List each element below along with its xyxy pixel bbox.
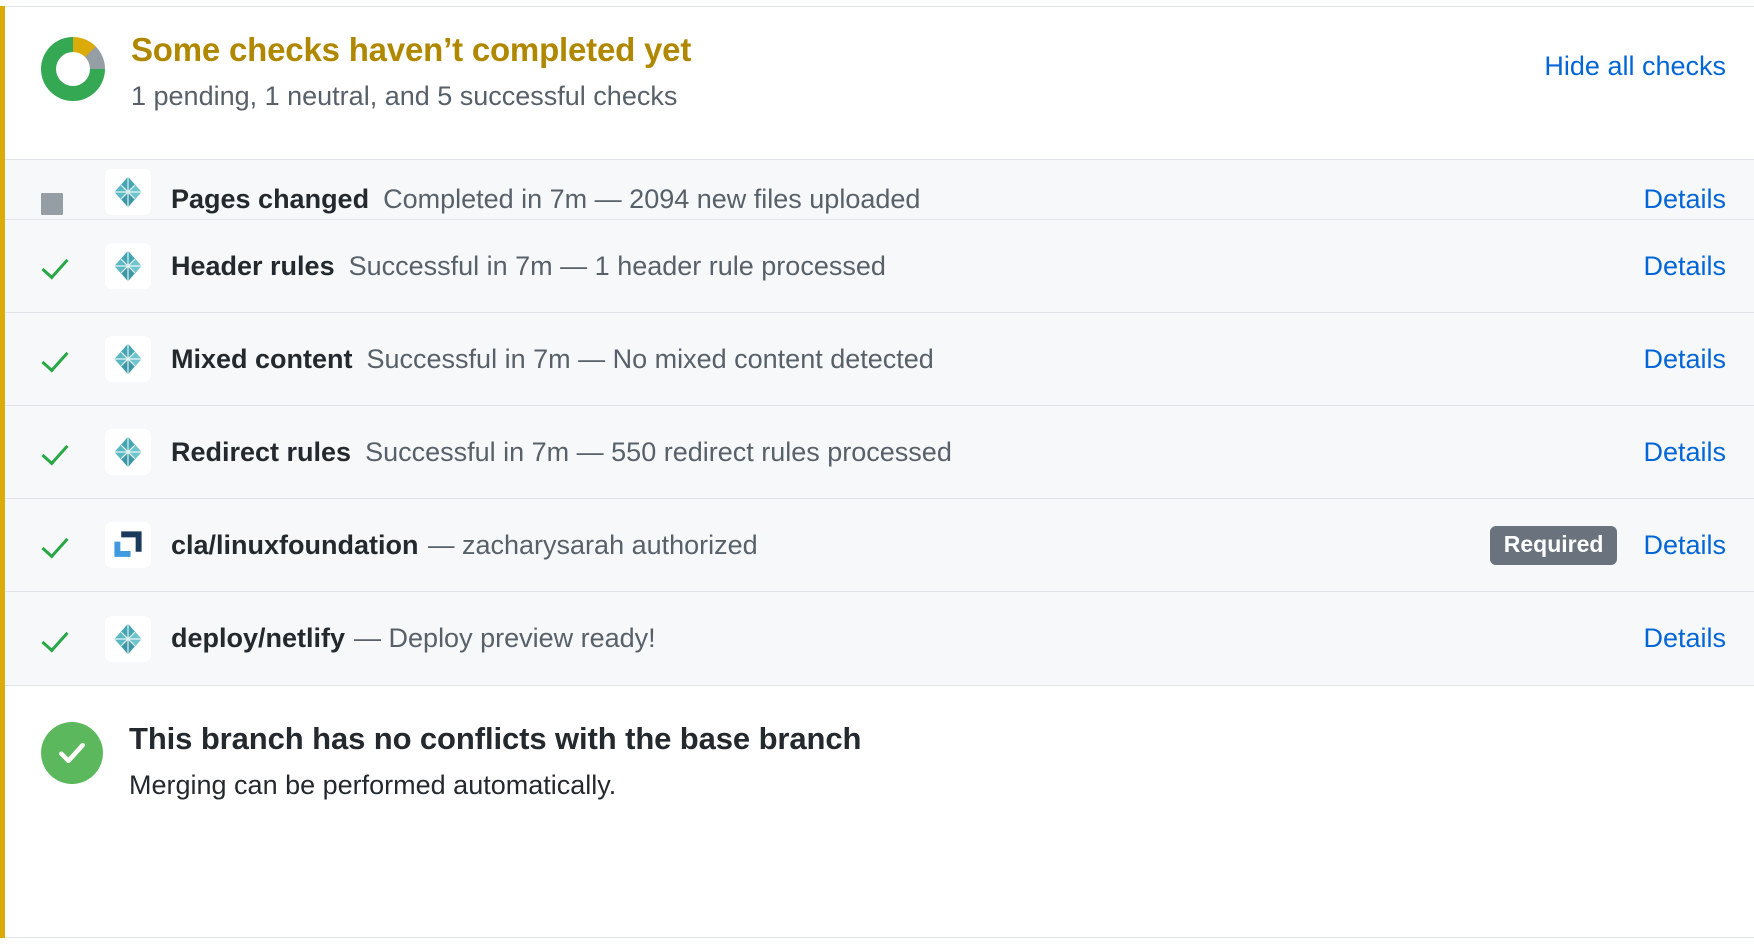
checks-header-content: Some checks haven’t completed yet 1 pend… xyxy=(41,31,1726,116)
check-description: Successful in 7m — No mixed content dete… xyxy=(367,344,934,375)
check-name: Mixed content xyxy=(171,344,353,375)
pull-request-merge-box: Some checks haven’t completed yet 1 pend… xyxy=(0,0,1754,946)
required-badge: Required xyxy=(1490,526,1618,565)
check-success-icon xyxy=(41,346,67,372)
check-success-icon xyxy=(41,253,67,279)
checks-status-summary: 1 pending, 1 neutral, and 5 successful c… xyxy=(131,76,691,117)
check-state-icon-success xyxy=(41,439,83,465)
check-state-icon-neutral xyxy=(41,193,83,215)
merge-status-text: This branch has no conflicts with the ba… xyxy=(129,720,861,805)
netlify-icon xyxy=(105,336,151,382)
check-success-icon xyxy=(41,439,67,465)
check-name: Pages changed xyxy=(171,184,369,215)
netlify-icon xyxy=(105,169,151,215)
check-state-icon-success xyxy=(41,253,83,279)
check-name: cla/linuxfoundation xyxy=(171,530,419,561)
check-description: Completed in 7m — 2094 new files uploade… xyxy=(383,184,920,215)
checks-status-donut-chart xyxy=(41,37,105,101)
check-row[interactable]: deploy/netlify — Deploy preview ready! D… xyxy=(5,592,1754,685)
check-row[interactable]: Pages changed Completed in 7m — 2094 new… xyxy=(5,160,1754,220)
check-description: Successful in 7m — 550 redirect rules pr… xyxy=(365,437,952,468)
neutral-square-icon xyxy=(41,193,63,215)
linux-foundation-icon xyxy=(105,522,151,568)
checks-header-text: Some checks haven’t completed yet 1 pend… xyxy=(131,31,691,116)
merge-success-check-icon xyxy=(41,722,103,784)
merge-box-frame: Some checks haven’t completed yet 1 pend… xyxy=(5,6,1754,938)
check-description: — Deploy preview ready! xyxy=(354,623,656,654)
check-name: deploy/netlify xyxy=(171,623,345,654)
check-state-icon-success xyxy=(41,346,83,372)
check-details-link[interactable]: Details xyxy=(1643,437,1726,468)
check-state-icon-success xyxy=(41,532,83,558)
hide-all-checks-link[interactable]: Hide all checks xyxy=(1544,51,1726,82)
check-name: Header rules xyxy=(171,251,335,282)
check-state-icon-success xyxy=(41,626,83,652)
check-success-icon xyxy=(41,532,67,558)
check-row[interactable]: Mixed content Successful in 7m — No mixe… xyxy=(5,313,1754,406)
checks-list: Pages changed Completed in 7m — 2094 new… xyxy=(5,159,1754,685)
check-description: Successful in 7m — 1 header rule process… xyxy=(349,251,886,282)
merge-status-subtitle: Merging can be performed automatically. xyxy=(129,765,861,806)
check-row[interactable]: Header rules Successful in 7m — 1 header… xyxy=(5,220,1754,313)
checks-status-title: Some checks haven’t completed yet xyxy=(131,31,691,70)
netlify-icon xyxy=(105,243,151,289)
check-row[interactable]: Redirect rules Successful in 7m — 550 re… xyxy=(5,406,1754,499)
check-details-link[interactable]: Details xyxy=(1643,184,1726,215)
netlify-icon xyxy=(105,429,151,475)
check-name: Redirect rules xyxy=(171,437,351,468)
netlify-icon xyxy=(105,616,151,662)
checks-header: Some checks haven’t completed yet 1 pend… xyxy=(5,7,1754,159)
check-row[interactable]: cla/linuxfoundation — zacharysarah autho… xyxy=(5,499,1754,592)
check-description: — zacharysarah authorized xyxy=(428,530,758,561)
check-details-link[interactable]: Details xyxy=(1643,251,1726,282)
check-details-link[interactable]: Details xyxy=(1643,623,1726,654)
check-details-link[interactable]: Details xyxy=(1643,530,1726,561)
check-success-icon xyxy=(41,626,67,652)
check-details-link[interactable]: Details xyxy=(1643,344,1726,375)
merge-status-title: This branch has no conflicts with the ba… xyxy=(129,720,861,759)
merge-conflict-status: This branch has no conflicts with the ba… xyxy=(5,685,1754,835)
